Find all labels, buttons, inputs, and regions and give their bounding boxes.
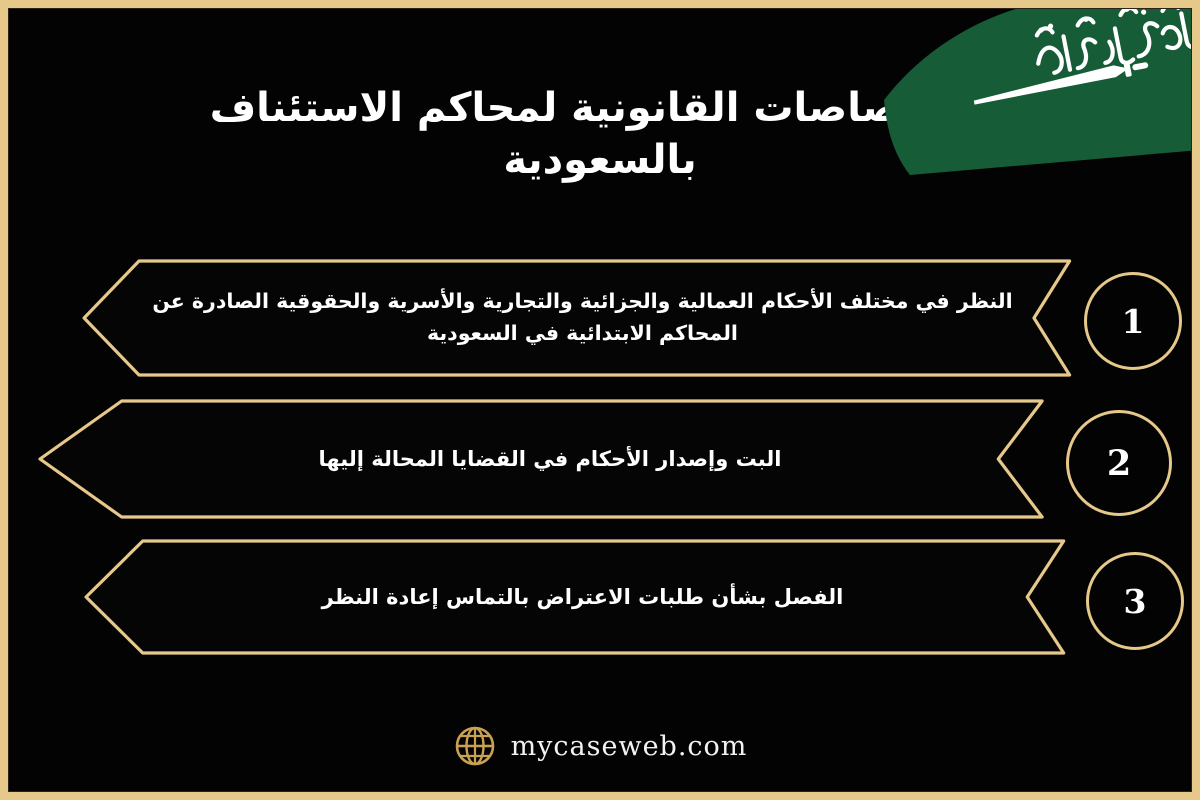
- footer-branding[interactable]: mycaseweb.com: [0, 724, 1200, 768]
- items-list: النظر في مختلف الأحكام العمالية والجزائي…: [0, 258, 1200, 676]
- item-number-badge: 1: [1084, 272, 1182, 370]
- list-item[interactable]: النظر في مختلف الأحكام العمالية والجزائي…: [0, 258, 1200, 378]
- infographic-poster: الاختصاصات القانونية لمحاكم الاستئناف با…: [0, 0, 1200, 800]
- item-text: البت وإصدار الأحكام في القضايا المحالة إ…: [80, 398, 1020, 520]
- globe-icon: [453, 724, 497, 768]
- item-number-badge: 3: [1086, 552, 1184, 650]
- page-title: الاختصاصات القانونية لمحاكم الاستئناف با…: [160, 82, 1040, 186]
- item-text: النظر في مختلف الأحكام العمالية والجزائي…: [115, 258, 1050, 378]
- site-name: mycaseweb.com: [511, 731, 748, 762]
- list-item[interactable]: الفصل بشأن طلبات الاعتراض بالتماس إعادة …: [0, 538, 1200, 656]
- page-title-container: الاختصاصات القانونية لمحاكم الاستئناف با…: [0, 82, 1200, 186]
- item-number-badge: 2: [1066, 410, 1172, 516]
- list-item[interactable]: البت وإصدار الأحكام في القضايا المحالة إ…: [0, 398, 1200, 520]
- item-text: الفصل بشأن طلبات الاعتراض بالتماس إعادة …: [120, 538, 1045, 656]
